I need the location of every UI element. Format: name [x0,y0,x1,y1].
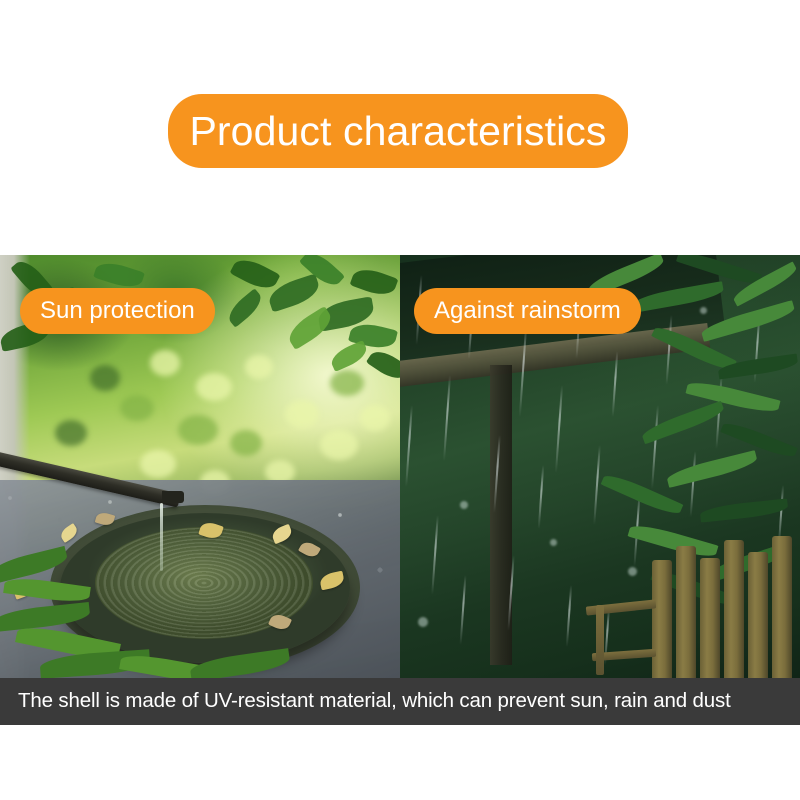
rain-streak [612,351,619,417]
badge-against-rainstorm[interactable]: Against rainstorm [414,288,641,334]
bokeh-highlight [178,415,218,445]
leaf-shape [224,288,266,328]
bamboo-pole [748,552,768,678]
rain-droplet [700,307,707,314]
bokeh-highlight [245,355,273,379]
badge-sun-protection-label: Sun protection [40,299,195,323]
bamboo-leaf [699,498,788,522]
leaf-shape [328,340,370,372]
leaf-shape [366,346,400,385]
leaf-shape [93,258,145,292]
rain-streak [460,575,467,645]
bamboo-leaf [628,521,719,561]
photo-against-rainstorm: Against rainstorm [400,255,800,678]
badge-against-rainstorm-label: Against rainstorm [434,299,621,323]
bamboo-pole [724,540,744,678]
bokeh-highlight [120,395,154,421]
page-title: Product characteristics [189,111,606,152]
caption-text: The shell is made of UV-resistant materi… [18,691,731,712]
bokeh-highlight [230,430,262,456]
product-characteristics-page: Product characteristics [0,0,800,800]
bamboo-leaf [665,450,758,488]
bokeh-highlight [55,420,87,446]
bokeh-highlight [320,430,358,460]
bamboo-pole [700,558,720,678]
bokeh-highlight [150,350,180,376]
leaf-shape [350,264,399,300]
bamboo-pole [676,546,696,678]
bokeh-highlight [196,373,232,401]
bokeh-highlight [285,400,319,428]
spout-tip [162,491,184,503]
rain-streak [593,445,601,525]
rain-streak [651,405,659,489]
rain-droplet [460,501,468,509]
rain-droplet [418,617,428,627]
bokeh-highlight [360,405,390,431]
feature-photo-strip: Sun protection [0,255,800,678]
page-title-pill: Product characteristics [168,94,628,168]
rain-streak [566,585,572,647]
water-stream [160,503,163,571]
rain-streak [405,405,413,487]
badge-sun-protection[interactable]: Sun protection [20,288,215,334]
rain-streak [555,385,563,473]
bamboo-pole [772,536,792,678]
rain-droplet [550,539,557,546]
bamboo-leaf [640,401,726,445]
bamboo-pole [652,560,672,678]
bokeh-highlight [140,450,176,478]
rain-streak [690,451,697,517]
rain-droplet [628,567,637,576]
rain-streak [443,375,451,461]
rain-streak [538,465,544,529]
photo-sun-protection: Sun protection [0,255,400,678]
bokeh-highlight [90,365,120,391]
rain-streak [431,515,439,595]
caption-bar: The shell is made of UV-resistant materi… [0,678,800,725]
fence-post [596,605,604,675]
bokeh-highlight [330,370,364,396]
